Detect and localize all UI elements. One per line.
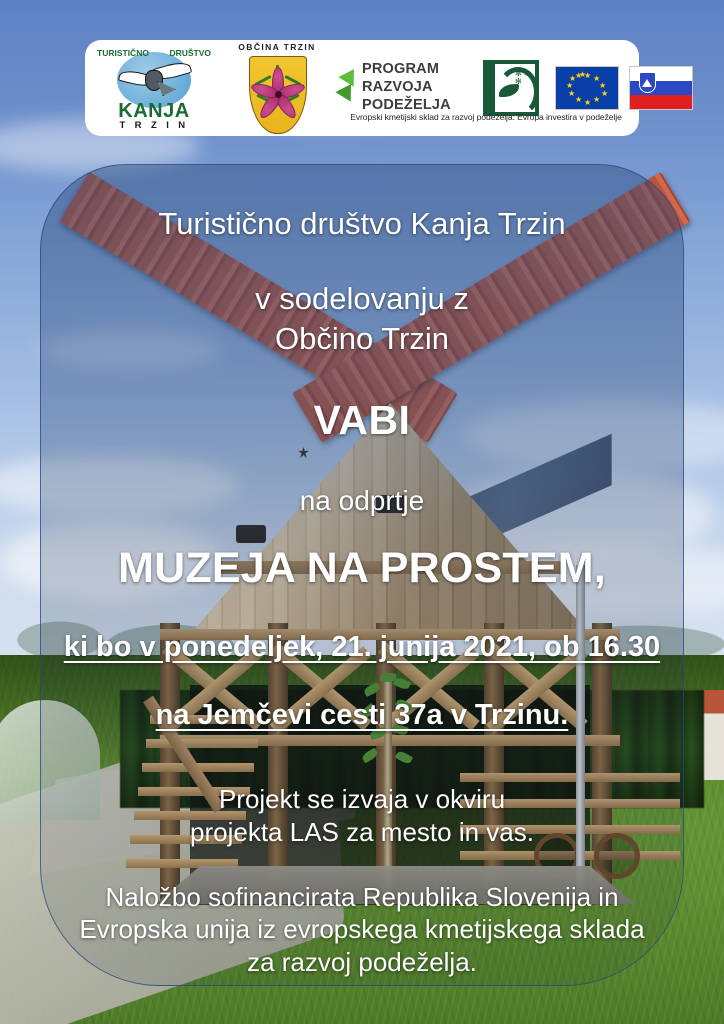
funding-line-1: Naložbo sofinancirata Republika Slovenij… [56, 882, 668, 913]
buzzard-icon [119, 62, 189, 96]
prp-line-1: PROGRAM [362, 61, 451, 79]
organizer-line: Turistično društvo Kanja Trzin [56, 206, 668, 243]
funding-line-2: Evropska unija iz evropskega kmetijskega… [56, 914, 668, 945]
project-line-1: Projekt se izvaja v okviru [56, 784, 668, 815]
kanja-arc-right: DRUŠTVO [169, 48, 211, 58]
kanja-arc-left: TURISTIČNO [97, 48, 149, 58]
poster: Turistično društvo Kanja Trzin v sodelov… [0, 0, 724, 1024]
kanja-subtitle: T R Z I N [95, 120, 213, 131]
project-line-2: projekta LAS za mesto in vas. [56, 817, 668, 848]
logo-obcina-trzin: OBČINA TRZIN [229, 42, 325, 134]
leader-stars-icon: ✻ ✻✻ [515, 70, 533, 88]
invites-heading: VABI [56, 396, 668, 444]
municipality-line: Občino Trzin [56, 321, 668, 358]
green-arrows-icon [339, 68, 359, 108]
eu-flag-icon: ★ ★ ★ ★ ★ ★ ★ ★ ★ ★ ★ ★ [555, 66, 619, 110]
event-location: na Jemčevi cesti 37a v Trzinu. [56, 698, 668, 732]
poster-text: Turistično društvo Kanja Trzin v sodelov… [40, 164, 684, 986]
cooperation-line: v sodelovanju z [56, 281, 668, 318]
opening-label: na odprtje [56, 484, 668, 517]
prp-line-2: RAZVOJA [362, 79, 451, 97]
funding-line-3: za razvoj podeželja. [56, 947, 668, 978]
coat-of-arms-shield [249, 56, 307, 134]
eu-funding-caption: Evropski kmetijski sklad za razvoj podež… [340, 112, 632, 122]
lily-center [275, 91, 282, 98]
event-datetime: ki bo v ponedeljek, 21. junija 2021, ob … [56, 630, 668, 664]
logo-leader: LEADER ✻ ✻✻ [483, 60, 539, 116]
slovenia-coat-of-arms [639, 72, 656, 93]
obcina-trzin-caption: OBČINA TRZIN [229, 42, 325, 52]
logo-slovenia-flag [629, 66, 693, 110]
logo-kanja-trzin: TURISTIČNO DRUŠTVO KANJA T R Z I N [95, 44, 213, 132]
logo-eu-flag: ★ ★ ★ ★ ★ ★ ★ ★ ★ ★ ★ ★ [555, 66, 619, 110]
slovenia-flag-icon [629, 66, 693, 110]
event-title: MUZEJA NA PROSTEM, [56, 543, 668, 594]
